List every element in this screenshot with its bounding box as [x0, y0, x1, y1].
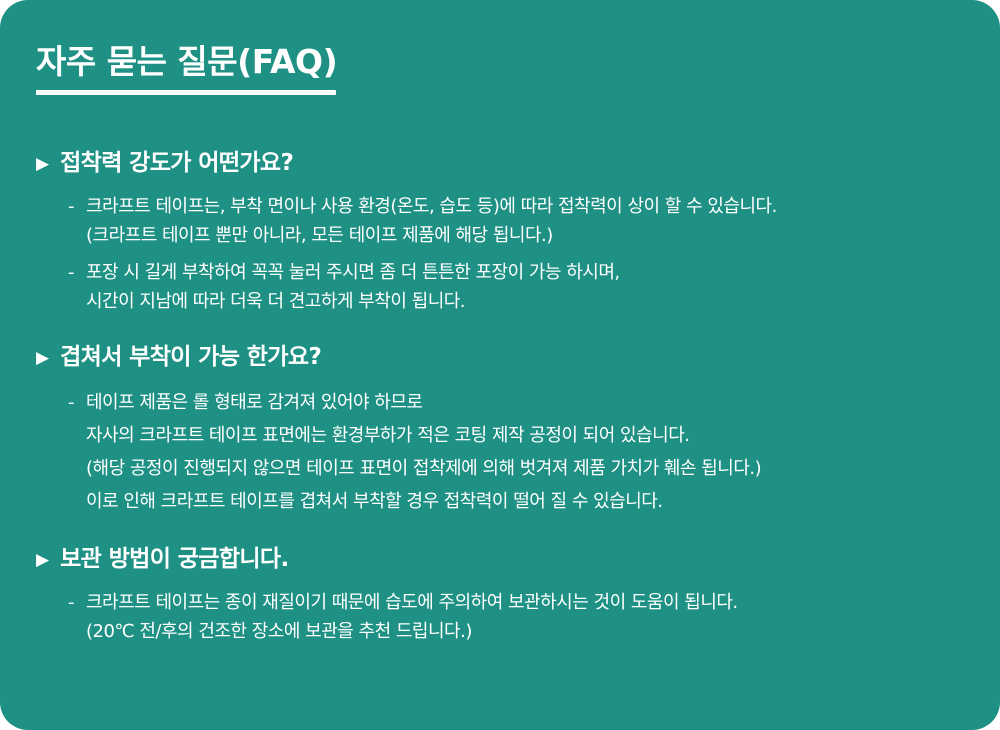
- dash-icon-spacer: -: [68, 487, 78, 516]
- faq-answer-block: -포장 시 길게 부착하여 꼭꼭 눌러 주시면 좀 더 튼튼한 포장이 가능 하…: [68, 258, 980, 316]
- faq-answer-text: 이로 인해 크라프트 테이프를 겹쳐서 부착할 경우 접착력이 떨어 질 수 있…: [86, 485, 663, 518]
- faq-answer-block: -크라프트 테이프는 종이 재질이기 때문에 습도에 주의하여 보관하시는 것이…: [68, 588, 980, 646]
- faq-answer-block: -크라프트 테이프는, 부착 면이나 사용 환경(온도, 습도 등)에 따라 접…: [68, 192, 980, 250]
- faq-answer-line: -(해당 공정이 진행되지 않으면 테이프 표면이 접착제에 의해 벗겨져 제품…: [68, 452, 980, 485]
- dash-icon-spacer: -: [68, 617, 78, 646]
- faq-answer-text: 포장 시 길게 부착하여 꼭꼭 눌러 주시면 좀 더 튼튼한 포장이 가능 하시…: [86, 258, 620, 287]
- faq-item[interactable]: ▶겹쳐서 부착이 가능 한가요?-테이프 제품은 롤 형태로 감겨져 있어야 하…: [36, 342, 980, 518]
- faq-answer-line: -시간이 지남에 따라 더욱 더 견고하게 부착이 됩니다.: [68, 287, 980, 316]
- faq-answer-line: -테이프 제품은 롤 형태로 감겨져 있어야 하므로: [68, 386, 980, 419]
- faq-answer-text: 시간이 지남에 따라 더욱 더 견고하게 부착이 됩니다.: [86, 287, 465, 316]
- faq-answer-text: (20℃ 전/후의 건조한 장소에 보관을 추천 드립니다.): [86, 617, 472, 646]
- faq-answer-block: -테이프 제품은 롤 형태로 감겨져 있어야 하므로-자사의 크라프트 테이프 …: [68, 386, 980, 518]
- faq-answer-text: 자사의 크라프트 테이프 표면에는 환경부하가 적은 코팅 제작 공정이 되어 …: [86, 419, 689, 452]
- faq-item[interactable]: ▶보관 방법이 궁금합니다.-크라프트 테이프는 종이 재질이기 때문에 습도에…: [36, 544, 980, 646]
- faq-question-row[interactable]: ▶겹쳐서 부착이 가능 한가요?: [36, 342, 980, 374]
- page-title: 자주 묻는 질문(FAQ): [36, 42, 337, 82]
- triangle-right-icon: ▶: [36, 343, 49, 373]
- faq-answer-group: -크라프트 테이프는 종이 재질이기 때문에 습도에 주의하여 보관하시는 것이…: [36, 588, 980, 646]
- dash-icon-spacer: -: [68, 287, 78, 316]
- dash-icon-spacer: -: [68, 454, 78, 483]
- page-title-block: 자주 묻는 질문(FAQ): [36, 42, 337, 95]
- faq-question-row[interactable]: ▶접착력 강도가 어떤가요?: [36, 148, 980, 180]
- triangle-right-icon: ▶: [36, 149, 49, 179]
- faq-answer-text: 테이프 제품은 롤 형태로 감겨져 있어야 하므로: [86, 386, 422, 419]
- faq-answer-line: -이로 인해 크라프트 테이프를 겹쳐서 부착할 경우 접착력이 떨어 질 수 …: [68, 485, 980, 518]
- faq-answer-text: 크라프트 테이프는, 부착 면이나 사용 환경(온도, 습도 등)에 따라 접착…: [86, 192, 777, 221]
- faq-answer-group: -크라프트 테이프는, 부착 면이나 사용 환경(온도, 습도 등)에 따라 접…: [36, 192, 980, 316]
- triangle-right-icon: ▶: [36, 545, 49, 575]
- faq-answer-group: -테이프 제품은 롤 형태로 감겨져 있어야 하므로-자사의 크라프트 테이프 …: [36, 386, 980, 518]
- faq-item[interactable]: ▶접착력 강도가 어떤가요?-크라프트 테이프는, 부착 면이나 사용 환경(온…: [36, 148, 980, 316]
- faq-question-row[interactable]: ▶보관 방법이 궁금합니다.: [36, 544, 980, 576]
- faq-card: 자주 묻는 질문(FAQ) ▶접착력 강도가 어떤가요?-크라프트 테이프는, …: [0, 0, 1000, 730]
- faq-answer-line: -자사의 크라프트 테이프 표면에는 환경부하가 적은 코팅 제작 공정이 되어…: [68, 419, 980, 452]
- faq-answer-line: -크라프트 테이프는, 부착 면이나 사용 환경(온도, 습도 등)에 따라 접…: [68, 192, 980, 221]
- faq-answer-line: -포장 시 길게 부착하여 꼭꼭 눌러 주시면 좀 더 튼튼한 포장이 가능 하…: [68, 258, 980, 287]
- faq-answer-text: 크라프트 테이프는 종이 재질이기 때문에 습도에 주의하여 보관하시는 것이 …: [86, 588, 738, 617]
- faq-question-text: 보관 방법이 궁금합니다.: [60, 544, 289, 574]
- dash-icon: -: [68, 388, 78, 417]
- faq-question-text: 겹쳐서 부착이 가능 한가요?: [60, 342, 321, 372]
- title-underline-rule: [36, 90, 336, 95]
- dash-icon: -: [68, 588, 78, 617]
- faq-answer-line: -(크라프트 테이프 뿐만 아니라, 모든 테이프 제품에 해당 됩니다.): [68, 221, 980, 250]
- faq-answer-line: -(20℃ 전/후의 건조한 장소에 보관을 추천 드립니다.): [68, 617, 980, 646]
- faq-answer-line: -크라프트 테이프는 종이 재질이기 때문에 습도에 주의하여 보관하시는 것이…: [68, 588, 980, 617]
- faq-question-text: 접착력 강도가 어떤가요?: [60, 148, 293, 178]
- faq-answer-text: (해당 공정이 진행되지 않으면 테이프 표면이 접착제에 의해 벗겨져 제품 …: [86, 452, 761, 485]
- dash-icon: -: [68, 258, 78, 287]
- dash-icon: -: [68, 192, 78, 221]
- dash-icon-spacer: -: [68, 421, 78, 450]
- faq-list: ▶접착력 강도가 어떤가요?-크라프트 테이프는, 부착 면이나 사용 환경(온…: [36, 148, 980, 646]
- dash-icon-spacer: -: [68, 221, 78, 250]
- faq-answer-text: (크라프트 테이프 뿐만 아니라, 모든 테이프 제품에 해당 됩니다.): [86, 221, 553, 250]
